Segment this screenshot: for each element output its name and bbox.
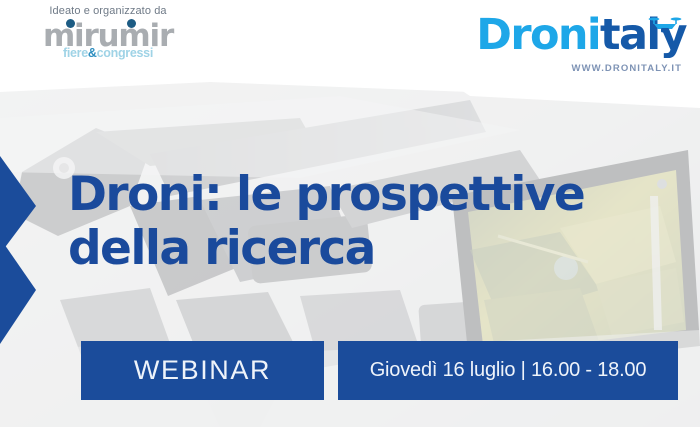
- poster-title-line1: Droni: le prospettive: [68, 167, 584, 222]
- poster-title: Droni: le prospettive della ricerca: [68, 168, 678, 276]
- drone-icon: [648, 14, 682, 36]
- poster-title-line2: della ricerca: [68, 222, 678, 276]
- webinar-poster: Ideato e organizzato da mirumir fiere&co…: [0, 0, 700, 427]
- format-badge: WEBINAR: [81, 341, 324, 400]
- mirumir-dot-right-icon: [127, 19, 136, 28]
- mirumir-tagline-left: fiere: [63, 46, 88, 60]
- brand-name-part1: Droni: [476, 10, 600, 60]
- brand-block: Dronitaly WWW.DRONITALY.IT: [476, 12, 686, 74]
- brand-website: WWW.DRONITALY.IT: [476, 63, 682, 74]
- mirumir-dot-left-icon: [66, 19, 75, 28]
- organizer-intro-label: Ideato e organizzato da: [8, 4, 208, 18]
- mirumir-tagline-amp: &: [88, 46, 97, 60]
- mirumir-logo: mirumir fiere&congressi: [38, 21, 178, 67]
- mirumir-tagline-right: congressi: [97, 46, 153, 60]
- organizer-block: Ideato e organizzato da mirumir fiere&co…: [8, 4, 208, 67]
- schedule-badge: Giovedì 16 luglio | 16.00 - 18.00: [338, 341, 678, 400]
- mirumir-tagline: fiere&congressi: [38, 47, 178, 60]
- chevron-arrow-icon: [0, 150, 62, 350]
